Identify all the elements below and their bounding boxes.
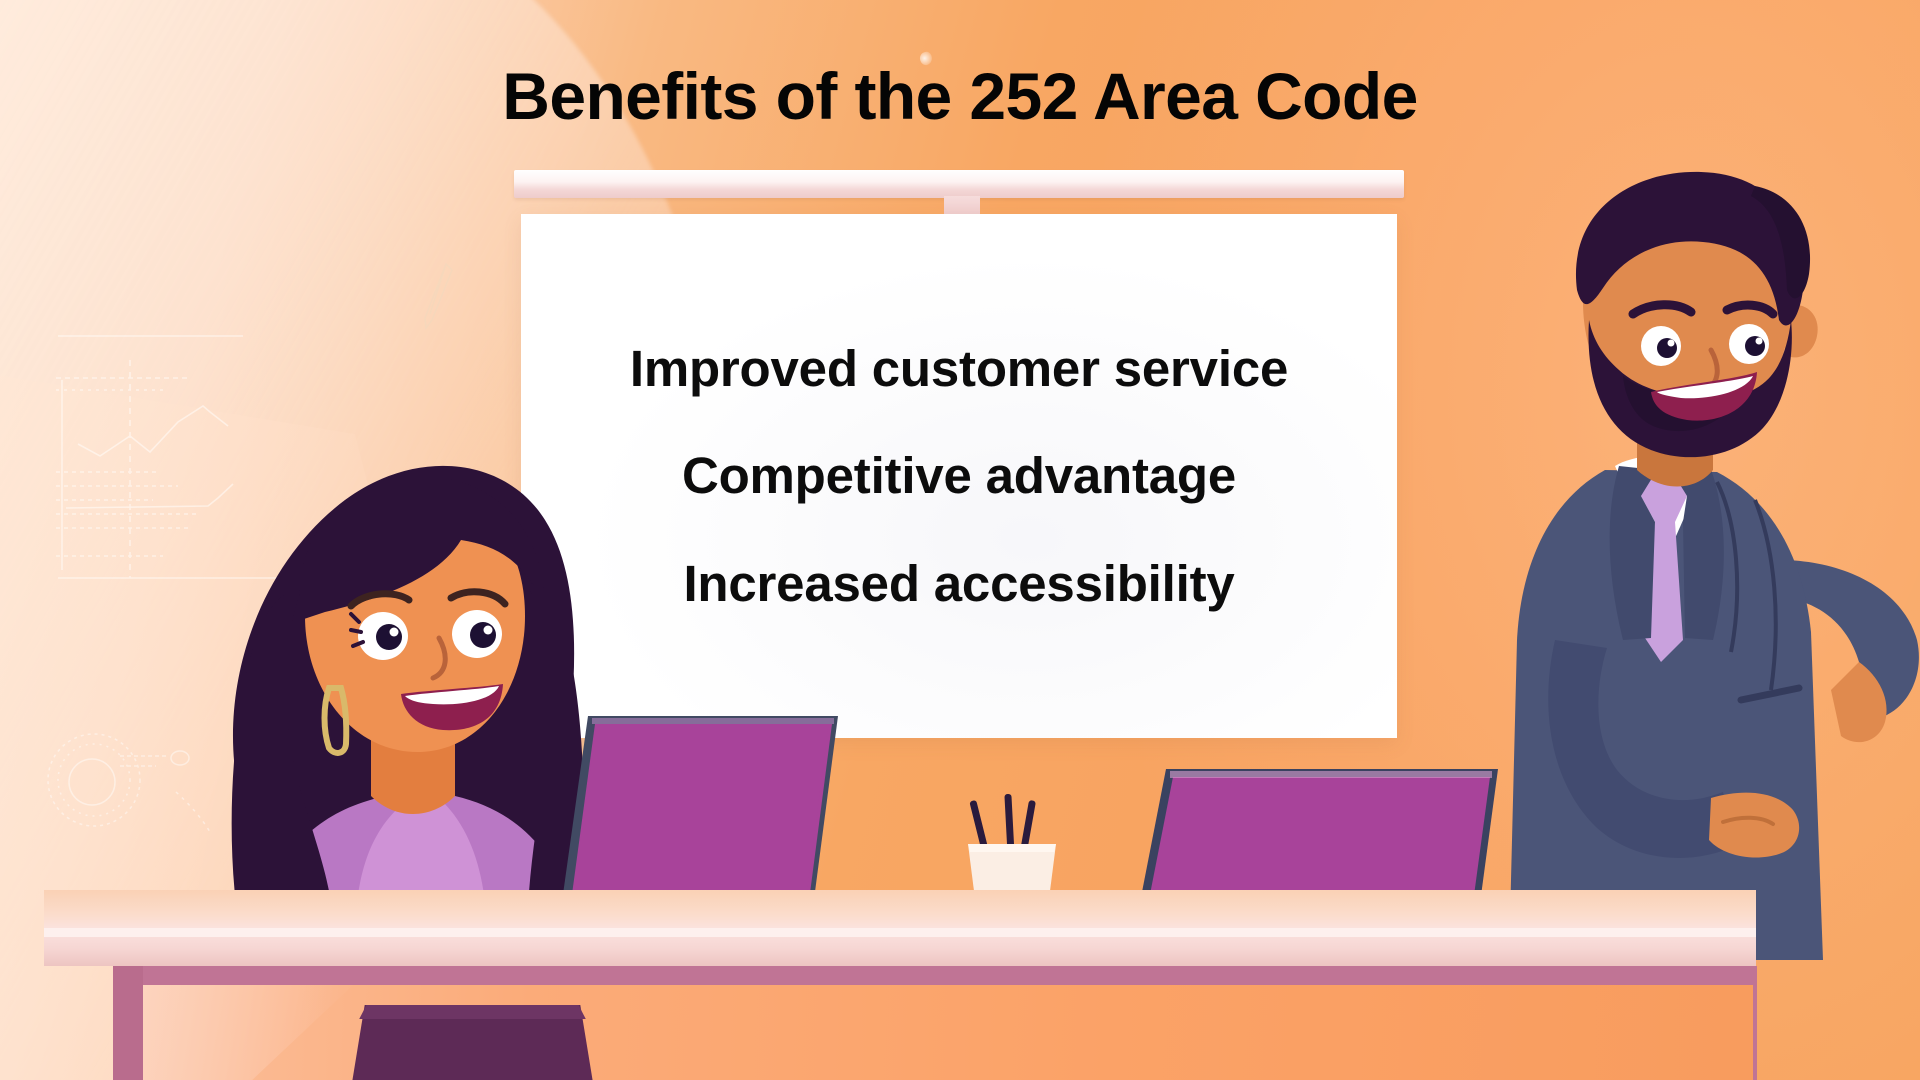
slide-canvas: Benefits of the 252 Area Code Improved c… xyxy=(0,0,1920,1080)
whiteboard-top-rail xyxy=(514,170,1404,198)
whiteboard-rail-hook xyxy=(944,196,980,216)
man-illustration xyxy=(1455,170,1920,960)
whiteboard-line-3: Increased accessibility xyxy=(683,557,1234,611)
whiteboard: Improved customer service Competitive ad… xyxy=(521,214,1397,738)
chair-highlight xyxy=(352,1005,593,1019)
whiteboard-line-1: Improved customer service xyxy=(630,342,1288,396)
page-title: Benefits of the 252 Area Code xyxy=(0,58,1920,134)
whiteboard-bullet-list: Improved customer service Competitive ad… xyxy=(521,214,1397,738)
desk-top-highlight xyxy=(44,928,1756,937)
desk-left-leg xyxy=(113,966,143,1080)
desk-surface xyxy=(44,890,1756,930)
whiteboard-line-2: Competitive advantage xyxy=(682,449,1236,503)
